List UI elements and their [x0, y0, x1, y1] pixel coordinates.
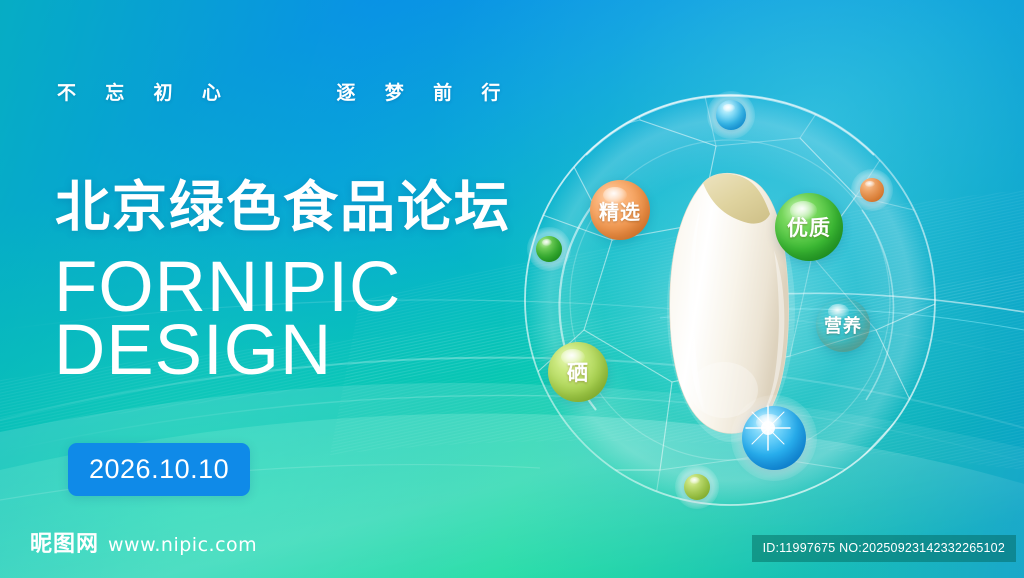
bubble-label: 营养 — [824, 312, 862, 338]
watermark: 昵图网 www.nipic.com — [30, 526, 257, 558]
bubble-yingyang[interactable]: 营养 — [816, 298, 870, 352]
banner-poster: 精选 优质 营养 硒 不 忘 初 心 逐 梦 前 行 北京绿色食品论坛 FORN… — [0, 0, 1024, 578]
page-title: 北京绿色食品论坛 — [55, 176, 511, 238]
bubble-dot-right — [860, 178, 884, 202]
glow-center-halo — [505, 95, 985, 525]
bubble-dot-left — [536, 236, 562, 262]
watermark-brand: 昵图网 — [30, 526, 99, 558]
watermark-url: www.nipic.com — [108, 534, 257, 556]
bubble-label: 优质 — [787, 212, 831, 242]
bubble-xi[interactable]: 硒 — [548, 342, 608, 402]
bubble-dot-bottom-right — [742, 406, 806, 470]
tagline: 不 忘 初 心 逐 梦 前 行 — [57, 78, 512, 105]
bubble-youzhi[interactable]: 优质 — [775, 193, 843, 261]
bubble-dot-top — [716, 100, 746, 130]
bubble-jingxuan[interactable]: 精选 — [590, 180, 650, 240]
date-badge[interactable]: 2026.10.10 — [68, 443, 250, 496]
english-title: FORNIPIC DESIGN — [54, 256, 401, 382]
id-badge: ID:11997675 NO:20250923142332265102 — [752, 535, 1016, 562]
bubble-label: 精选 — [599, 196, 641, 225]
bubble-dot-bottom — [684, 474, 710, 500]
bubble-label: 硒 — [567, 357, 589, 387]
